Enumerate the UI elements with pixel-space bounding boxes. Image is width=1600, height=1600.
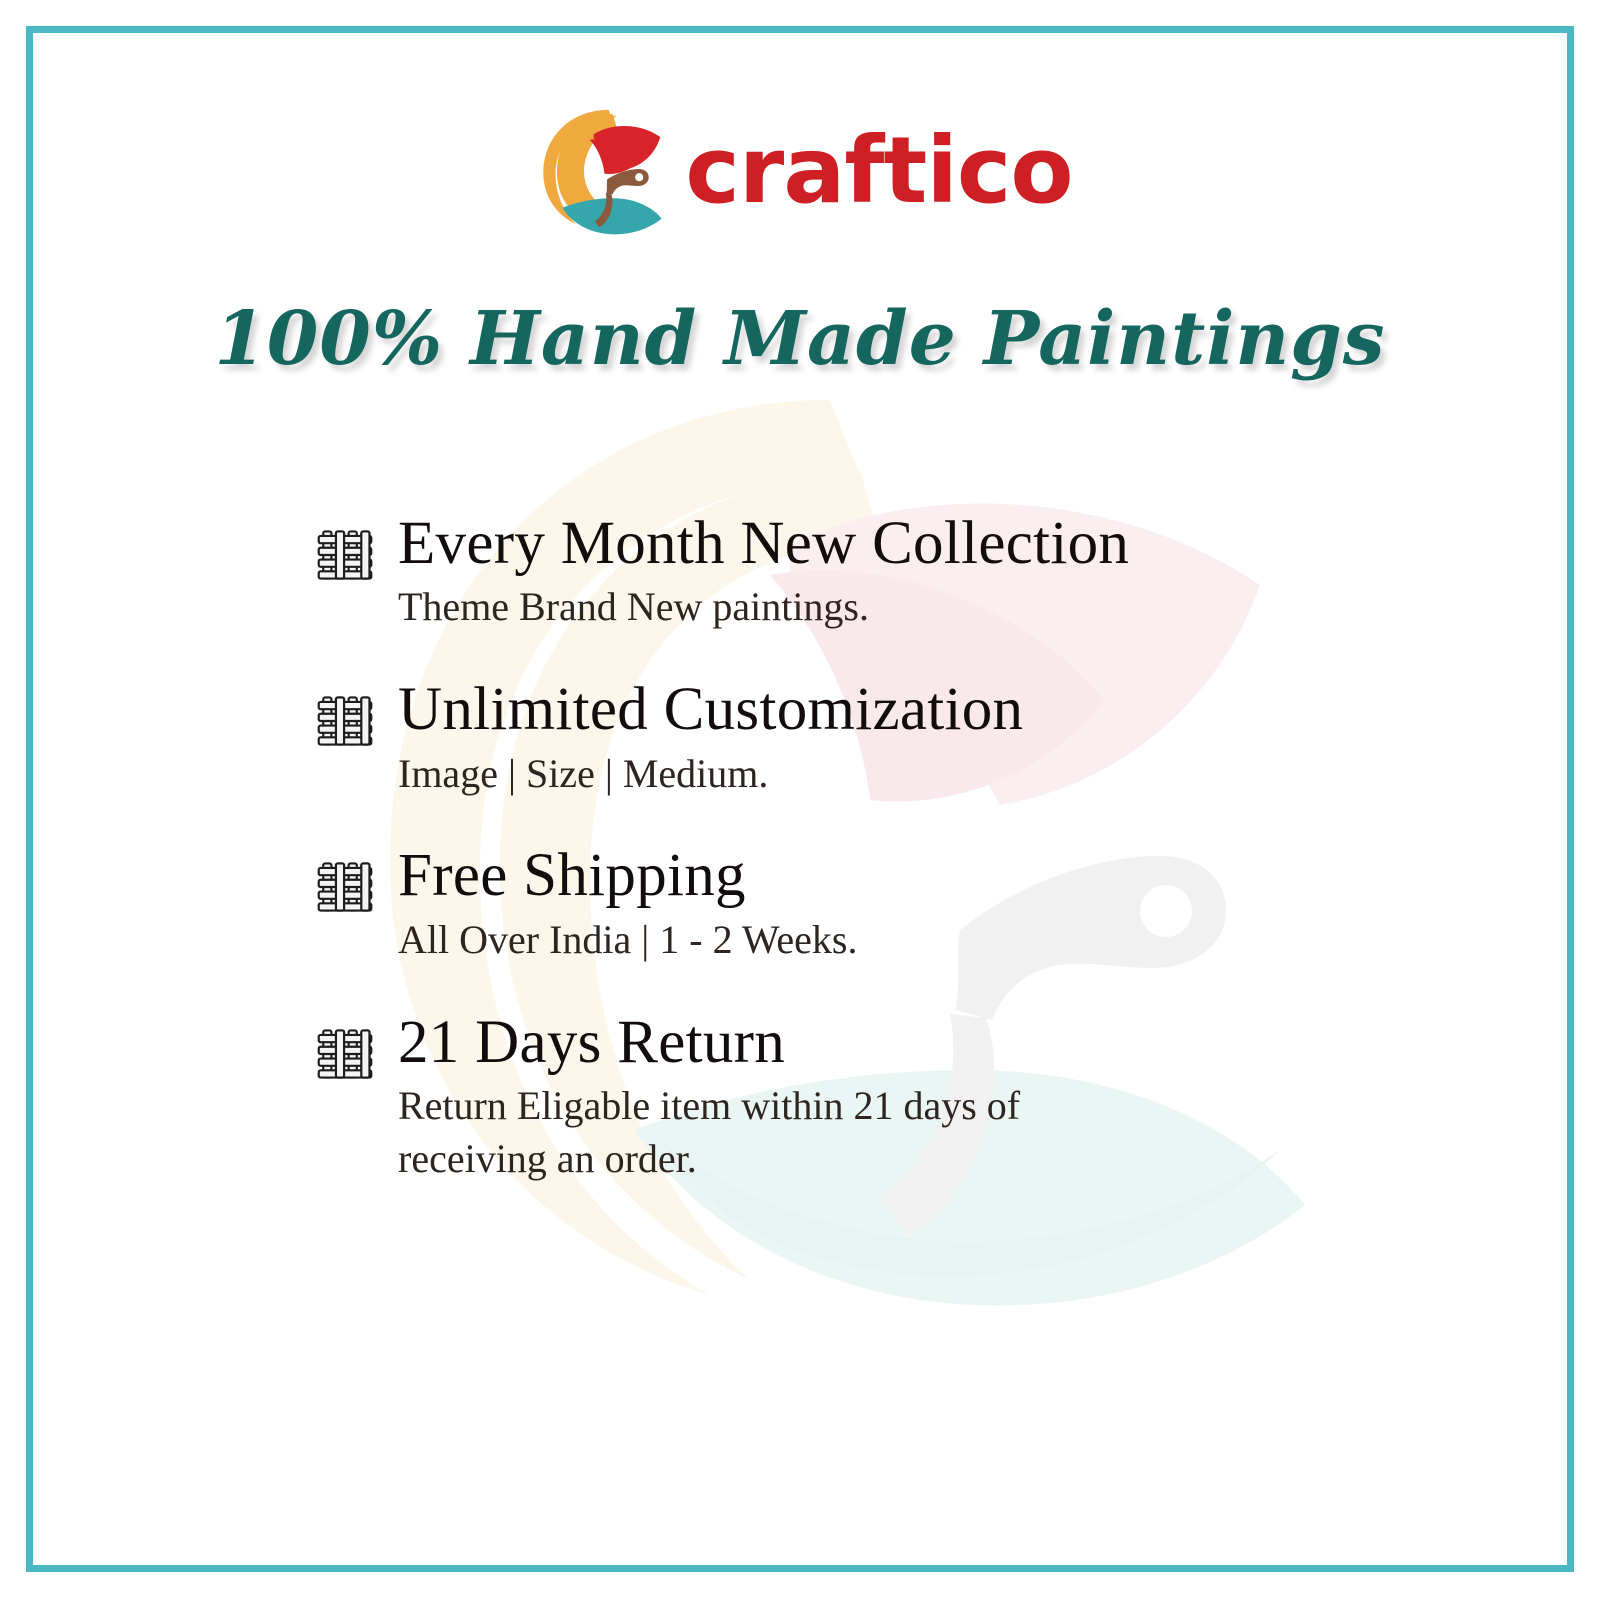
page-title: 100% Hand Made Paintings — [0, 296, 1600, 382]
list-item: Unlimited Customization Image | Size | M… — [316, 678, 1466, 800]
list-item: Every Month New Collection Theme Brand N… — [316, 512, 1466, 634]
poster-canvas: craftico 100% Hand Made Paintings — [0, 0, 1600, 1600]
craftico-logo-icon — [527, 99, 663, 235]
woven-fabric-icon — [316, 526, 374, 584]
feature-list: Every Month New Collection Theme Brand N… — [316, 512, 1466, 1186]
feature-title: Unlimited Customization — [398, 678, 1466, 741]
list-item: Free Shipping All Over India | 1 - 2 Wee… — [316, 844, 1466, 966]
feature-subtitle: Return Eligable item within 21 days of r… — [398, 1080, 1128, 1186]
woven-fabric-icon — [316, 692, 374, 750]
feature-title: 21 Days Return — [398, 1011, 1466, 1074]
brand-header: craftico — [0, 92, 1600, 242]
woven-fabric-icon — [316, 858, 374, 916]
woven-fabric-icon — [316, 1025, 374, 1083]
brand-wordmark: craftico — [685, 125, 1072, 217]
feature-subtitle: Theme Brand New paintings. — [398, 581, 1128, 634]
feature-title: Free Shipping — [398, 844, 1466, 907]
feature-subtitle: All Over India | 1 - 2 Weeks. — [398, 914, 1128, 967]
list-item: 21 Days Return Return Eligable item with… — [316, 1011, 1466, 1186]
feature-subtitle: Image | Size | Medium. — [398, 748, 1128, 801]
feature-title: Every Month New Collection — [398, 512, 1466, 575]
